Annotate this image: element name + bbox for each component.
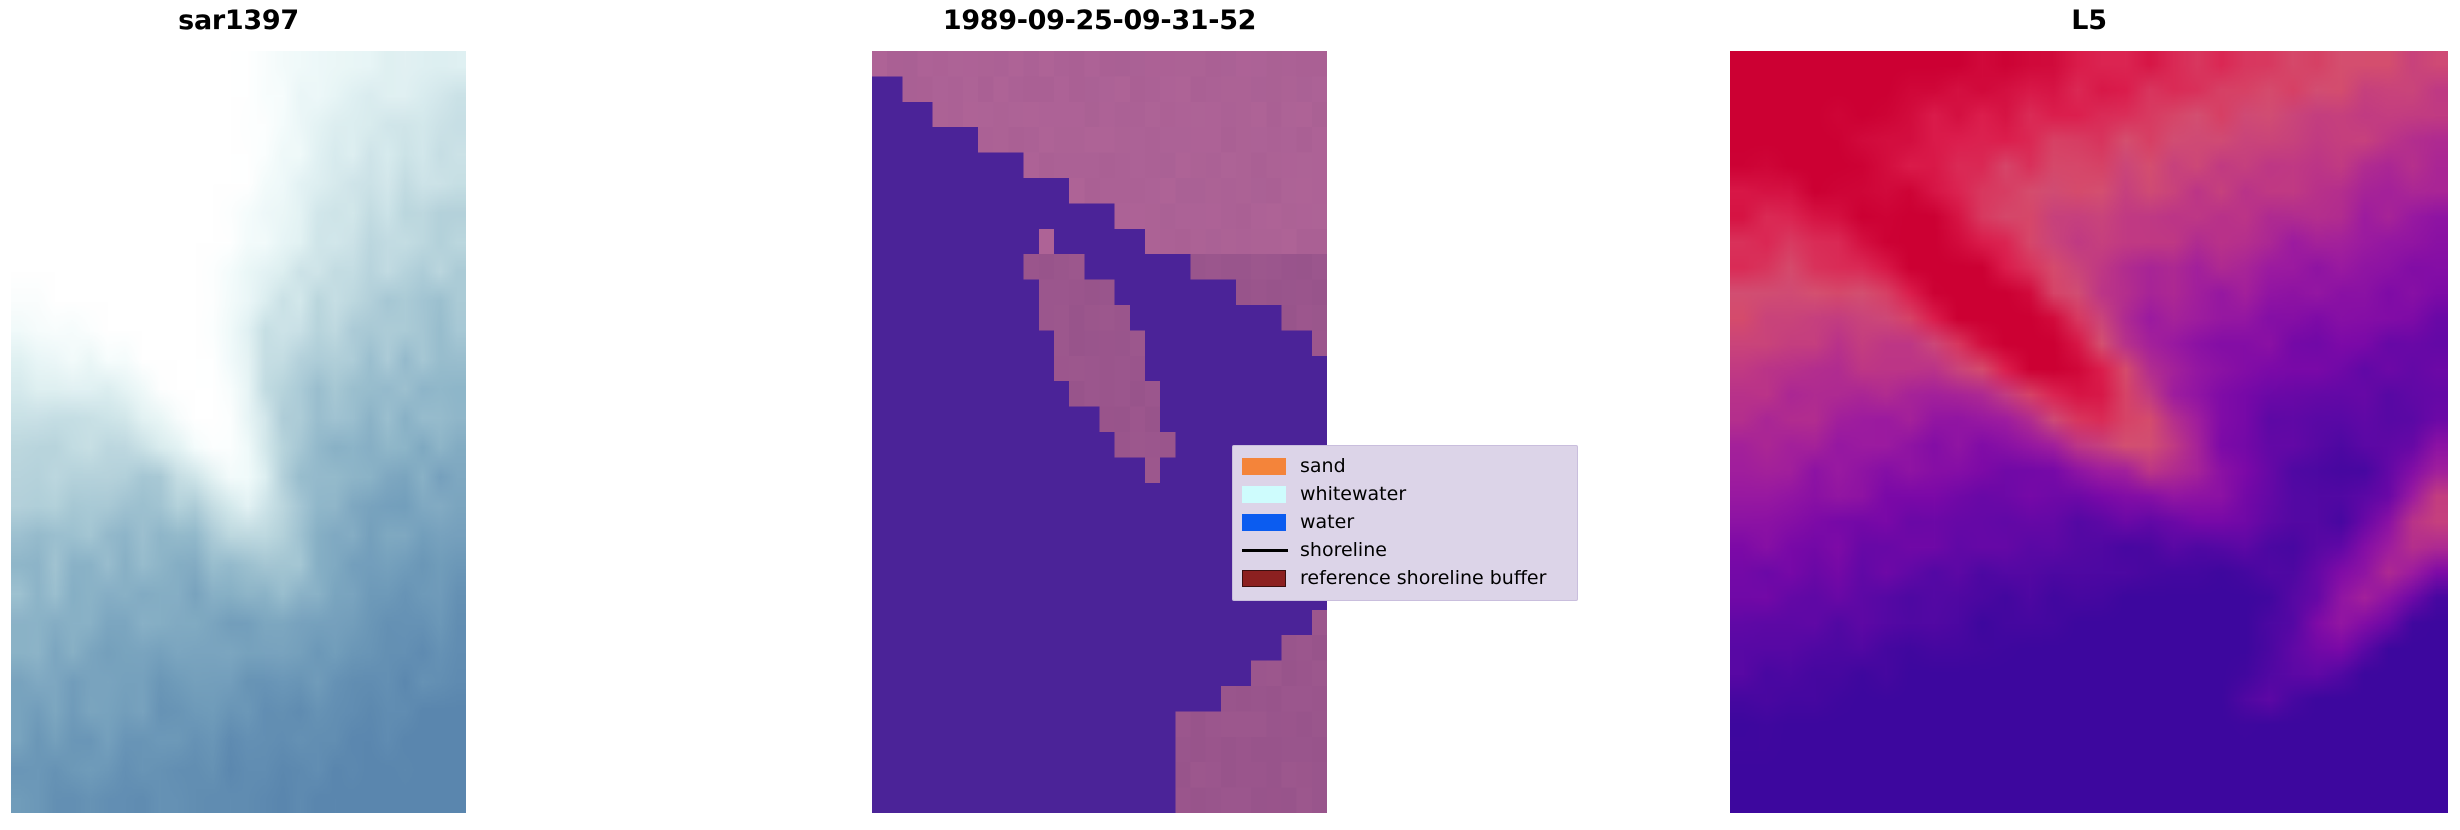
legend-swatch-cell [1242, 458, 1300, 475]
panel-sar: sar1397 [11, 0, 466, 830]
shoreline-line-icon [1242, 549, 1288, 552]
panel-classified-image [872, 51, 1327, 813]
legend-swatch-cell [1242, 549, 1300, 552]
legend-item-sand[interactable]: sand [1242, 452, 1568, 480]
panel-classified: 1989-09-25-09-31-52 [872, 0, 1327, 830]
legend-item-shoreline[interactable]: shoreline [1242, 536, 1568, 564]
legend-item-label: sand [1300, 455, 1346, 477]
legend-item-water[interactable]: water [1242, 508, 1568, 536]
legend-item-label: shoreline [1300, 539, 1387, 561]
legend-color-swatch-icon [1242, 514, 1286, 531]
panel-sar-image [11, 51, 466, 813]
legend-swatch-cell [1242, 570, 1300, 587]
panel-l5: L5 [1730, 0, 2448, 830]
legend-item-reference[interactable]: reference shoreline buffer [1242, 564, 1568, 592]
legend[interactable]: sandwhitewaterwatershorelinereference sh… [1232, 445, 1578, 601]
legend-item-label: reference shoreline buffer [1300, 567, 1546, 589]
panel-classified-title: 1989-09-25-09-31-52 [872, 4, 1327, 38]
legend-color-swatch-icon [1242, 458, 1286, 475]
panel-sar-title: sar1397 [11, 4, 466, 38]
legend-item-label: water [1300, 511, 1354, 533]
legend-color-swatch-icon [1242, 570, 1286, 587]
panel-l5-title: L5 [1730, 4, 2448, 38]
legend-swatch-cell [1242, 514, 1300, 531]
legend-color-swatch-icon [1242, 486, 1286, 503]
figure-canvas: sar1397 1989-09-25-09-31-52 L5 sandwhite… [0, 0, 2460, 830]
legend-item-label: whitewater [1300, 483, 1406, 505]
panel-l5-image [1730, 51, 2448, 813]
legend-swatch-cell [1242, 486, 1300, 503]
legend-item-whitewater[interactable]: whitewater [1242, 480, 1568, 508]
